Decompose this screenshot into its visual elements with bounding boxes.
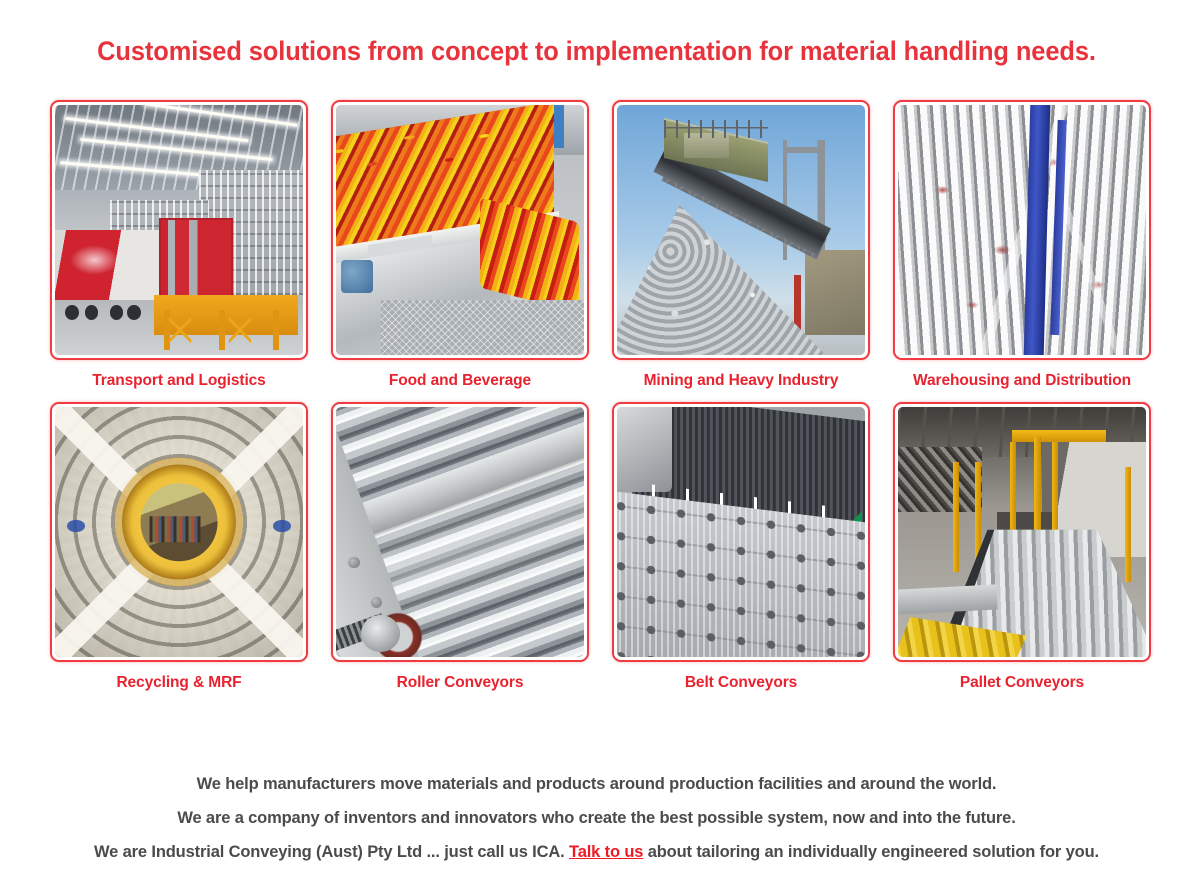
footer-line-3-after: about tailoring an individually engineer… [643, 843, 1099, 861]
gallery-item[interactable]: Warehousing and Distribution [893, 100, 1151, 390]
pallet-conveyor-line-photo [898, 407, 1146, 657]
mining-stacker-gravel-photo [617, 105, 865, 355]
page-title: Customised solutions from concept to imp… [24, 36, 1169, 67]
footer-line-1: We help manufacturers move materials and… [0, 770, 1193, 799]
food-conveyor-peppers-photo [336, 105, 584, 355]
gallery-item[interactable]: Roller Conveyors [331, 402, 589, 692]
gallery-item-caption: Food and Beverage [331, 372, 589, 390]
thumbnail-frame[interactable] [893, 100, 1151, 360]
gallery-item[interactable]: Belt Conveyors [612, 402, 870, 692]
thumbnail-frame[interactable] [612, 100, 870, 360]
gallery-item[interactable]: Pallet Conveyors [893, 402, 1151, 692]
gallery-item-caption: Roller Conveyors [331, 674, 589, 692]
gallery-item[interactable]: Transport and Logistics [50, 100, 308, 390]
footer-line-3: We are Industrial Conveying (Aust) Pty L… [0, 838, 1193, 867]
footer-line-3-before: We are Industrial Conveying (Aust) Pty L… [94, 843, 569, 861]
gallery-item-caption: Transport and Logistics [50, 372, 308, 390]
thumbnail-frame[interactable] [331, 100, 589, 360]
roller-conveyor-photo [336, 407, 584, 657]
trommel-screen-drum-photo [55, 407, 303, 657]
gallery-item-caption: Recycling & MRF [50, 674, 308, 692]
gallery-item[interactable]: Mining and Heavy Industry [612, 100, 870, 390]
modular-plastic-belt-photo [617, 407, 865, 657]
thumbnail-frame[interactable] [331, 402, 589, 662]
page-root: Customised solutions from concept to imp… [0, 0, 1193, 885]
talk-to-us-link[interactable]: Talk to us [569, 843, 643, 861]
industry-gallery-grid: Transport and Logistics Food and Beverag… [50, 100, 1150, 692]
asrs-racking-photo [898, 105, 1146, 355]
gallery-item[interactable]: Recycling & MRF [50, 402, 308, 692]
gallery-item-caption: Belt Conveyors [612, 674, 870, 692]
gallery-item-caption: Mining and Heavy Industry [612, 372, 870, 390]
footer-line-2: We are a company of inventors and innova… [0, 804, 1193, 833]
gallery-item-caption: Warehousing and Distribution [893, 372, 1151, 390]
footer-copy: We help manufacturers move materials and… [0, 770, 1193, 867]
thumbnail-frame[interactable] [50, 402, 308, 662]
thumbnail-frame[interactable] [50, 100, 308, 360]
thumbnail-frame[interactable] [893, 402, 1151, 662]
thumbnail-frame[interactable] [612, 402, 870, 662]
warehouse-truck-loading-photo [55, 105, 303, 355]
gallery-item-caption: Pallet Conveyors [893, 674, 1151, 692]
gallery-item[interactable]: Food and Beverage [331, 100, 589, 390]
